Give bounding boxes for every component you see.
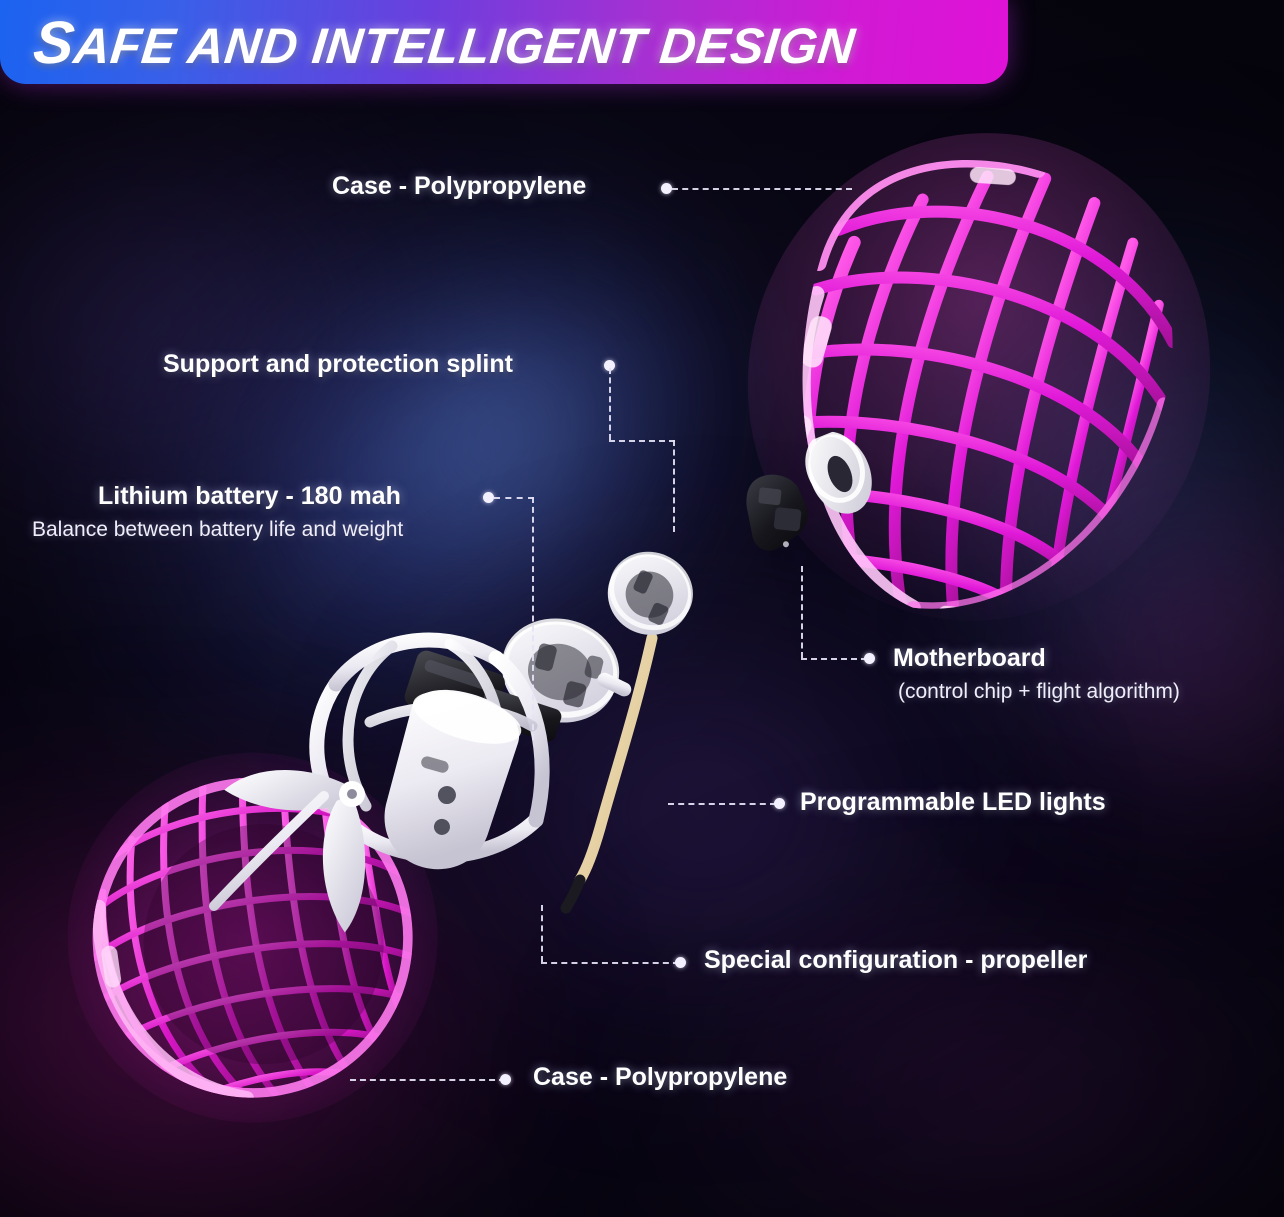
leader-line-splint-v2	[673, 440, 675, 532]
leader-dot-case-bottom	[500, 1074, 511, 1085]
leader-dot-battery	[483, 492, 494, 503]
callout-battery-subtitle: Balance between battery life and weight	[32, 517, 403, 542]
callout-battery-title: Lithium battery - 180 mah	[98, 482, 403, 511]
leader-line-case-top	[672, 188, 852, 190]
callout-case-top-title: Case - Polypropylene	[332, 172, 586, 201]
callout-led: Programmable LED lights	[800, 788, 1106, 817]
leader-dot-propeller	[675, 957, 686, 968]
leader-line-splint-h	[609, 440, 675, 442]
leader-line-case-bottom	[350, 1079, 505, 1081]
callout-propeller: Special configuration - propeller	[704, 946, 1087, 975]
callout-case-bottom: Case - Polypropylene	[533, 1063, 787, 1092]
callout-splint: Support and protection splint	[163, 350, 513, 379]
callout-battery: Lithium battery - 180 mah Balance betwee…	[98, 482, 403, 542]
callout-motherboard: Motherboard (control chip + flight algor…	[893, 644, 1180, 704]
leader-dot-motherboard	[864, 653, 875, 664]
callout-motherboard-subtitle: (control chip + flight algorithm)	[898, 679, 1180, 704]
callout-motherboard-title: Motherboard	[893, 644, 1180, 673]
callout-propeller-title: Special configuration - propeller	[704, 946, 1087, 975]
leader-dot-case-top	[661, 183, 672, 194]
leader-line-led	[668, 803, 776, 805]
leader-line-motherboard-h	[801, 658, 867, 660]
callout-led-title: Programmable LED lights	[800, 788, 1106, 817]
leader-dot-led	[774, 798, 785, 809]
leader-line-motherboard-v	[801, 566, 803, 658]
leader-line-splint-v1	[609, 368, 611, 440]
leader-line-battery-v	[532, 497, 534, 740]
leader-line-propeller-v	[541, 905, 543, 962]
callout-splint-title: Support and protection splint	[163, 350, 513, 379]
callout-case-top: Case - Polypropylene	[332, 172, 586, 201]
callout-case-bottom-title: Case - Polypropylene	[533, 1063, 787, 1092]
callout-leader-lines	[0, 0, 1284, 1217]
leader-line-propeller-h	[541, 962, 679, 964]
leader-line-battery-h	[494, 497, 534, 499]
product-infographic: SAFE AND INTELLIGENT DESIGN Cas	[0, 0, 1284, 1217]
